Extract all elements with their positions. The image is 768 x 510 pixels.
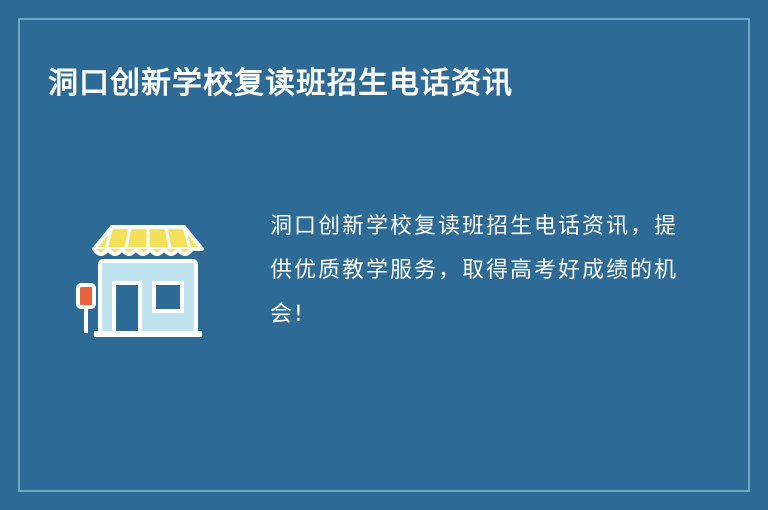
storefront-icon (72, 211, 222, 356)
content-row: 洞口创新学校复读班招生电话资讯，提供优质教学服务，取得高考好成绩的机会! (48, 205, 708, 356)
page-title: 洞口创新学校复读班招生电话资讯 (48, 62, 608, 106)
body-paragraph: 洞口创新学校复读班招生电话资讯，提供优质教学服务，取得高考好成绩的机会! (270, 205, 690, 337)
poster-card: 洞口创新学校复读班招生电话资讯 (0, 0, 768, 510)
